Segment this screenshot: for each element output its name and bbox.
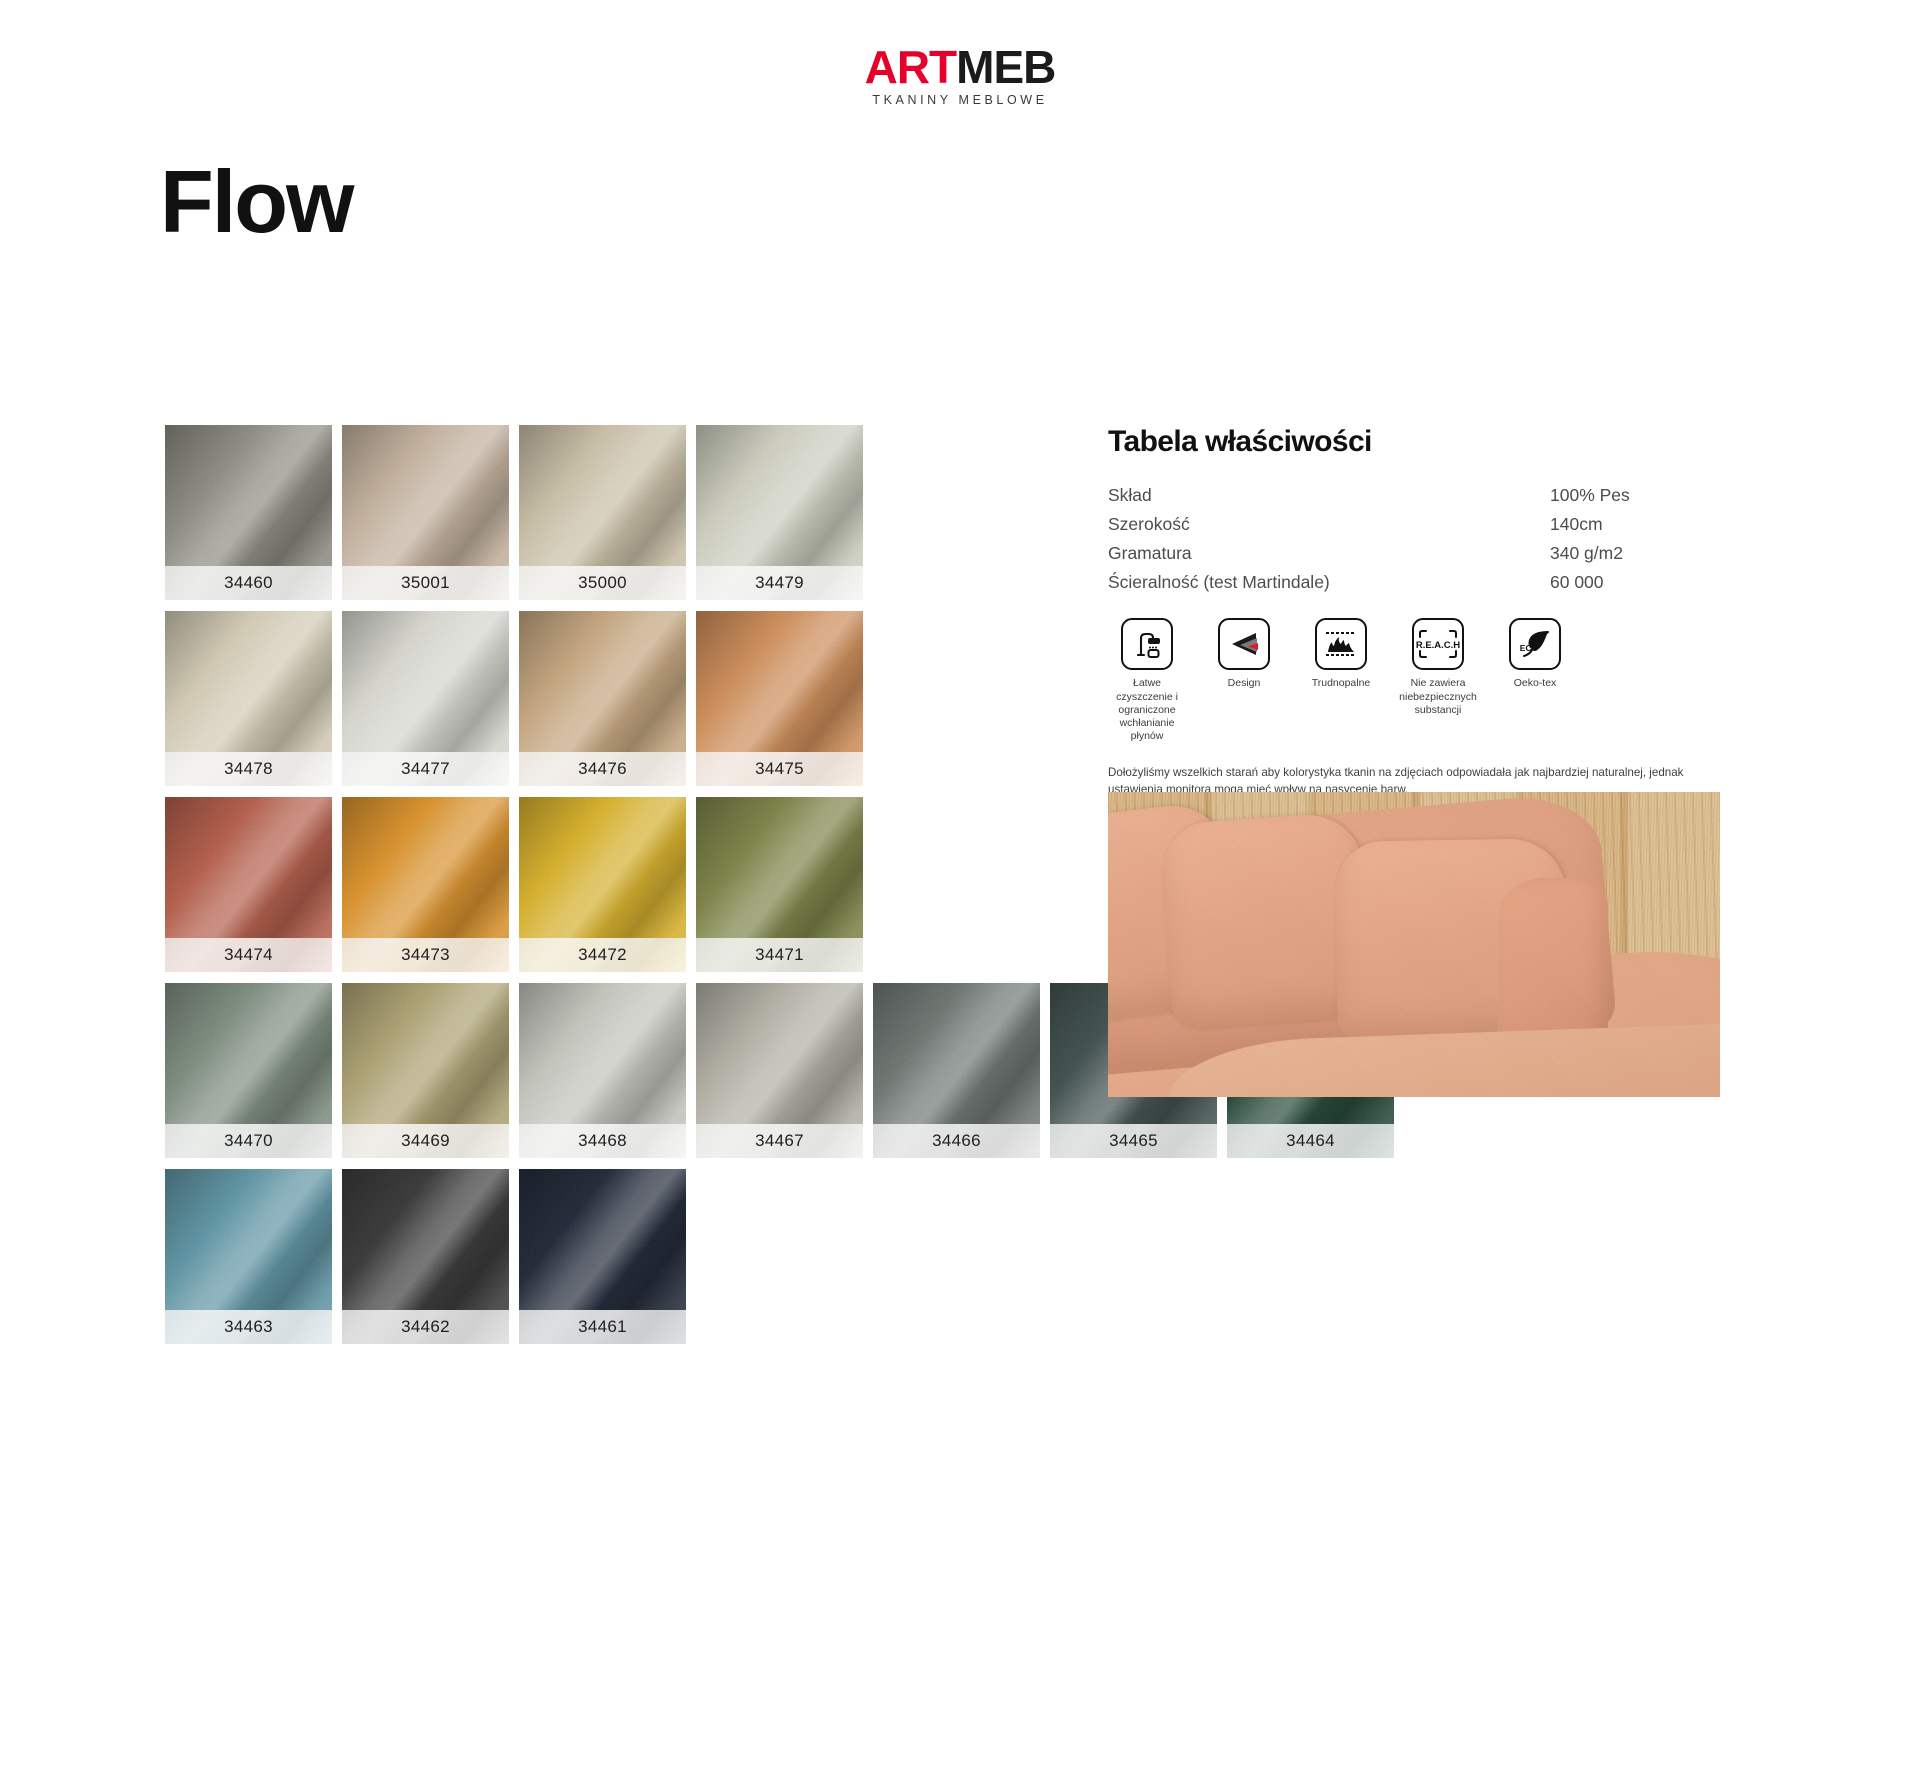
swatch-code-label: 34467	[696, 1124, 863, 1158]
fabric-swatch[interactable]: 34463	[165, 1169, 332, 1344]
svg-text:ECO: ECO	[1520, 643, 1539, 653]
feature-icon-item: ECOOeko-tex	[1496, 618, 1574, 743]
fabric-swatch[interactable]: 34470	[165, 983, 332, 1158]
fabric-swatch[interactable]: 34474	[165, 797, 332, 972]
swatch-code-label: 34460	[165, 566, 332, 600]
swatch-code-label: 34477	[342, 752, 509, 786]
property-value: 140cm	[1550, 510, 1720, 539]
swatch-code-label: 35000	[519, 566, 686, 600]
fabric-swatch[interactable]: 34472	[519, 797, 686, 972]
fabric-swatch[interactable]: 34469	[342, 983, 509, 1158]
fabric-swatch[interactable]: 34461	[519, 1169, 686, 1344]
fabric-swatch[interactable]: 34467	[696, 983, 863, 1158]
fabric-swatch[interactable]: 34475	[696, 611, 863, 786]
property-label: Gramatura	[1108, 539, 1550, 568]
page-title: Flow	[160, 158, 352, 246]
swatch-code-label: 34474	[165, 938, 332, 972]
fabric-swatch[interactable]: 34466	[873, 983, 1040, 1158]
feature-icon-caption: Design	[1228, 677, 1261, 690]
property-row: Ścieralność (test Martindale)60 000	[1108, 568, 1720, 597]
fabric-swatch[interactable]: 34468	[519, 983, 686, 1158]
logo-wordmark: ARTMEB TKANINY MEBLOWE	[865, 44, 1056, 107]
fabric-swatch[interactable]: 34476	[519, 611, 686, 786]
feature-icon-caption: Trudnopalne	[1312, 677, 1371, 690]
feature-icon-item: Design	[1205, 618, 1283, 743]
feature-icon-item: Łatwe czyszczenie i ograniczone wchłania…	[1108, 618, 1186, 743]
cleaning-spray-icon	[1121, 618, 1173, 670]
swatch-code-label: 34464	[1227, 1124, 1394, 1158]
swatch-code-label: 34476	[519, 752, 686, 786]
property-row: Skład100% Pes	[1108, 481, 1720, 510]
fabric-swatch[interactable]: 34471	[696, 797, 863, 972]
property-value: 340 g/m2	[1550, 539, 1720, 568]
properties-heading: Tabela właściwości	[1108, 425, 1720, 459]
logo-meb-text: MEB	[956, 41, 1055, 93]
swatch-code-label: 34470	[165, 1124, 332, 1158]
eco-leaf-icon: ECO	[1509, 618, 1561, 670]
fabric-swatch[interactable]: 34479	[696, 425, 863, 600]
design-arrow-icon	[1218, 618, 1270, 670]
swatch-code-label: 34471	[696, 938, 863, 972]
feature-icon-caption: Nie zawiera niebezpiecznych substancji	[1399, 677, 1477, 716]
reach-icon: R.E.A.C.H	[1412, 618, 1464, 670]
property-label: Ścieralność (test Martindale)	[1108, 568, 1550, 597]
properties-table: Skład100% PesSzerokość140cmGramatura340 …	[1108, 481, 1720, 596]
fabric-swatch[interactable]: 34478	[165, 611, 332, 786]
swatch-code-label: 34468	[519, 1124, 686, 1158]
property-label: Skład	[1108, 481, 1550, 510]
swatch-code-label: 34469	[342, 1124, 509, 1158]
fabric-swatch[interactable]: 34477	[342, 611, 509, 786]
property-row: Gramatura340 g/m2	[1108, 539, 1720, 568]
swatch-code-label: 34466	[873, 1124, 1040, 1158]
feature-icon-item: R.E.A.C.HNie zawiera niebezpiecznych sub…	[1399, 618, 1477, 743]
fabric-swatch[interactable]: 34460	[165, 425, 332, 600]
feature-icon-item: Trudnopalne	[1302, 618, 1380, 743]
fabric-swatch[interactable]: 34462	[342, 1169, 509, 1344]
fabric-swatch[interactable]: 34473	[342, 797, 509, 972]
swatch-code-label: 34473	[342, 938, 509, 972]
swatch-code-label: 34465	[1050, 1124, 1217, 1158]
fabric-swatch[interactable]: 35000	[519, 425, 686, 600]
logo-tagline: TKANINY MEBLOWE	[865, 94, 1056, 107]
swatch-code-label: 34479	[696, 566, 863, 600]
properties-panel: Tabela właściwości Skład100% PesSzerokoś…	[1108, 425, 1720, 847]
swatch-code-label: 34462	[342, 1310, 509, 1344]
property-value: 100% Pes	[1550, 481, 1720, 510]
feature-icon-caption: Łatwe czyszczenie i ograniczone wchłania…	[1108, 677, 1186, 743]
swatch-code-label: 34463	[165, 1310, 332, 1344]
fabric-swatch[interactable]: 35001	[342, 425, 509, 600]
properties-table-body: Skład100% PesSzerokość140cmGramatura340 …	[1108, 481, 1720, 596]
sofa-photo	[1108, 792, 1720, 1097]
svg-text:R.E.A.C.H: R.E.A.C.H	[1416, 640, 1460, 651]
swatch-code-label: 35001	[342, 566, 509, 600]
property-value: 60 000	[1550, 568, 1720, 597]
property-row: Szerokość140cm	[1108, 510, 1720, 539]
swatch-code-label: 34475	[696, 752, 863, 786]
swatch-row: 344633446234461	[165, 1169, 1785, 1344]
brand-logo: ARTMEB TKANINY MEBLOWE	[0, 44, 1920, 109]
feature-icons-row: Łatwe czyszczenie i ograniczone wchłania…	[1108, 618, 1720, 743]
swatch-code-label: 34461	[519, 1310, 686, 1344]
swatch-code-label: 34478	[165, 752, 332, 786]
logo-art-text: ART	[865, 41, 957, 93]
feature-icon-caption: Oeko-tex	[1514, 677, 1557, 690]
flame-icon	[1315, 618, 1367, 670]
swatch-code-label: 34472	[519, 938, 686, 972]
property-label: Szerokość	[1108, 510, 1550, 539]
